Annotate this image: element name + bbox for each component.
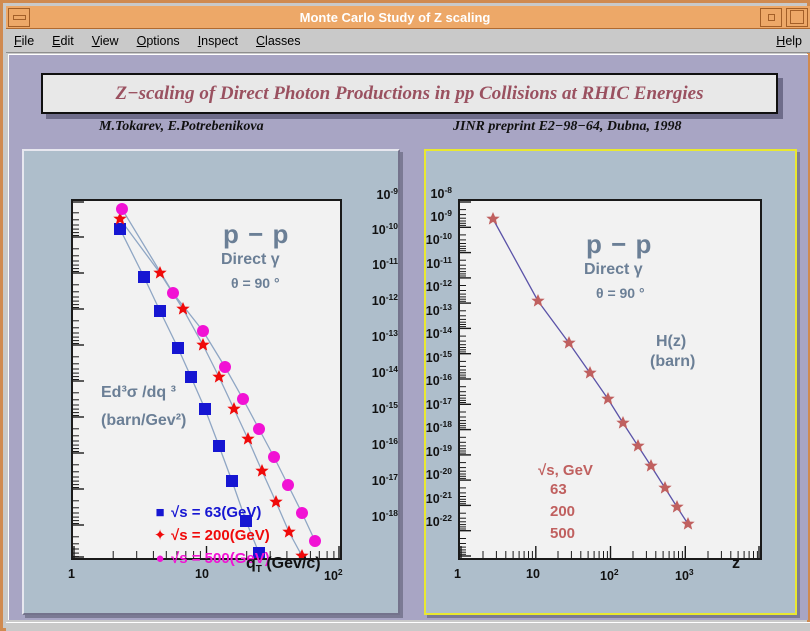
- legend-label-200: √s = 200(GeV): [171, 527, 270, 544]
- right-legend-value-1: 200: [538, 501, 593, 523]
- right-x-axis-label: z: [732, 555, 740, 573]
- right-ytick-6: 10-14: [422, 325, 452, 341]
- right-ann-direct: Direct γ: [584, 261, 643, 279]
- right-ytick-14: 10-22: [422, 513, 452, 529]
- minimize-icon: [13, 15, 26, 20]
- right-xtick-2: 102: [600, 567, 619, 583]
- minimize-button[interactable]: [760, 8, 782, 27]
- left-ytick-2: 10-11: [353, 256, 398, 272]
- right-ytick-11: 10-19: [422, 443, 452, 459]
- maximize-icon: [790, 10, 804, 24]
- star-marker-icon: ✦: [149, 528, 171, 543]
- right-legend-title: √s, GeV: [538, 462, 593, 479]
- square-marker-icon: ■: [149, 505, 171, 520]
- left-pad[interactable]: 10-9 10-10 10-11 10-12 10-13 10-14 10-15…: [22, 149, 400, 615]
- slide-banner[interactable]: Z−scaling of Direct Photon Productions i…: [41, 73, 778, 114]
- menu-item-options[interactable]: Options: [135, 33, 182, 49]
- circle-marker-icon: ●: [149, 551, 171, 566]
- right-legend-value-0: 63: [538, 479, 593, 501]
- right-ytick-8: 10-16: [422, 372, 452, 388]
- right-plot-legend: √s, GeV 63 200 500: [538, 462, 593, 544]
- left-ytick-8: 10-17: [353, 472, 398, 488]
- left-ann-theta: θ = 90 °: [231, 275, 280, 291]
- left-x-axis-label: qT (Gev/c): [246, 555, 321, 575]
- right-ytick-13: 10-21: [422, 490, 452, 506]
- menu-item-help-label: elp: [785, 34, 802, 48]
- right-ytick-4: 10-12: [422, 278, 452, 294]
- right-y-major-ticks: [460, 202, 471, 556]
- left-ytick-0: 10-9: [353, 186, 398, 202]
- menu-item-inspect[interactable]: Inspect: [196, 33, 240, 49]
- right-y-minor-ticks: [460, 210, 466, 555]
- left-y-minor-ticks: [73, 213, 79, 557]
- menu-item-classes[interactable]: Classes: [254, 33, 302, 49]
- right-xtick-3: 103: [675, 567, 694, 583]
- application-window: Monte Carlo Study of Z scaling File Edit…: [0, 0, 810, 631]
- right-plot-frame[interactable]: p − p Direct γ θ = 90 ° H(z) (barn) √s, …: [458, 199, 762, 560]
- right-ytick-2: 10-10: [422, 231, 452, 247]
- menu-item-inspect-label: nspect: [201, 34, 238, 48]
- right-ytick-0: 10-8: [422, 185, 452, 201]
- authors-label: M.Tokarev, E.Potrebenikova: [99, 119, 264, 135]
- left-ytick-5: 10-14: [353, 364, 398, 380]
- legend-entry-200[interactable]: ✦ √s = 200(GeV): [149, 524, 270, 547]
- right-ann-process: p − p: [586, 229, 652, 260]
- left-ann-process: p − p: [223, 219, 289, 250]
- menu-item-view-label: iew: [100, 34, 119, 48]
- left-ann-direct: Direct γ: [221, 251, 280, 269]
- page-title: Z−scaling of Direct Photon Productions i…: [116, 83, 704, 105]
- legend-entry-63[interactable]: ■ √s = 63(GeV): [149, 501, 270, 524]
- right-ytick-12: 10-20: [422, 466, 452, 482]
- left-plot-frame[interactable]: p − p Direct γ θ = 90 ° Ed³σ /dq ³ (barn…: [71, 199, 342, 560]
- left-xtick-2: 102: [324, 567, 343, 583]
- menu-item-file[interactable]: File: [12, 33, 36, 49]
- menu-item-edit[interactable]: Edit: [50, 33, 76, 49]
- title-bar-buttons: [758, 8, 810, 27]
- status-strip: [6, 622, 810, 631]
- right-ytick-5: 10-13: [422, 302, 452, 318]
- left-ytick-7: 10-16: [353, 436, 398, 452]
- menu-item-options-label: ptions: [146, 34, 179, 48]
- right-ann-theta: θ = 90 °: [596, 285, 645, 301]
- title-bar: Monte Carlo Study of Z scaling: [6, 6, 810, 29]
- right-ytick-1: 10-9: [422, 208, 452, 224]
- menu-item-edit-label: dit: [61, 34, 74, 48]
- menu-item-view[interactable]: View: [90, 33, 121, 49]
- right-ytick-10: 10-18: [422, 419, 452, 435]
- window-menu-button[interactable]: [8, 8, 30, 27]
- reference-label: JINR preprint E2−98−64, Dubna, 1998: [453, 119, 682, 135]
- right-ytick-9: 10-17: [422, 396, 452, 412]
- left-ann-ylabel-2: (barn/Gev²): [101, 412, 186, 430]
- menu-item-file-label: ile: [22, 34, 35, 48]
- right-x-minor-ticks: [483, 551, 757, 558]
- restore-icon: [768, 14, 775, 21]
- left-ytick-4: 10-13: [353, 328, 398, 344]
- left-ytick-3: 10-12: [353, 292, 398, 308]
- right-legend-value-2: 500: [538, 523, 593, 545]
- menu-bar: File Edit View Options Inspect Classes H…: [6, 29, 810, 53]
- left-xtick-0: 1: [68, 567, 75, 581]
- maximize-button[interactable]: [786, 8, 808, 27]
- root-canvas[interactable]: Z−scaling of Direct Photon Productions i…: [8, 54, 808, 620]
- menu-item-help[interactable]: Help: [774, 33, 804, 49]
- left-ytick-9: 10-18: [353, 508, 398, 524]
- right-xtick-1: 10: [526, 567, 540, 581]
- right-pad[interactable]: 10-8 10-9 10-10 10-11 10-12 10-13 10-14 …: [424, 149, 797, 615]
- legend-label-63: √s = 63(GeV): [171, 504, 261, 521]
- right-xtick-0: 1: [454, 567, 461, 581]
- right-ann-barn: (barn): [650, 353, 695, 371]
- window-title: Monte Carlo Study of Z scaling: [32, 10, 758, 25]
- left-ytick-6: 10-15: [353, 400, 398, 416]
- left-xtick-1: 10: [195, 567, 209, 581]
- left-ann-ylabel-1: Ed³σ /dq ³: [101, 384, 176, 402]
- right-ann-hz: H(z): [656, 333, 686, 351]
- left-ytick-1: 10-10: [353, 221, 398, 237]
- menu-item-classes-label: lasses: [265, 34, 300, 48]
- right-ytick-3: 10-11: [422, 255, 452, 271]
- right-ytick-7: 10-15: [422, 349, 452, 365]
